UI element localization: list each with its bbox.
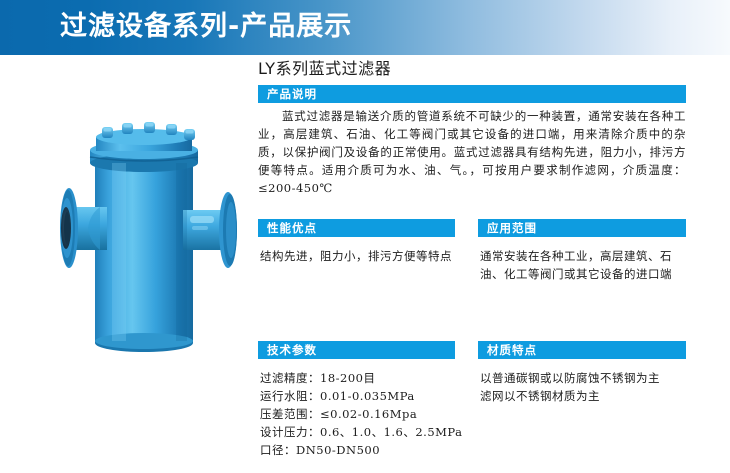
section-heading-parameters: 技术参数 — [258, 341, 455, 359]
parameter-line: 压差范围：≤0.02-0.16Mpa — [260, 405, 455, 423]
performance-text: 结构先进，阻力小，排污方便等特点 — [258, 247, 455, 265]
section-heading-material: 材质特点 — [478, 341, 686, 359]
application-text: 通常安装在各种工业，高层建筑、石油、化工等阀门或其它设备的进口端 — [478, 247, 686, 283]
material-column: 材质特点 以普通碳钢或以防腐蚀不锈钢为主 滤网以不锈钢材质为主 — [478, 341, 686, 459]
description-text: 蓝式过滤器是输送介质的管道系统不可缺少的一种装置，通常安装在各种工业，高层建筑、… — [258, 107, 686, 197]
section-heading-performance: 性能优点 — [258, 219, 455, 237]
performance-column: 性能优点 结构先进，阻力小，排污方便等特点 — [258, 219, 455, 283]
section-heading-description: 产品说明 — [258, 85, 686, 103]
product-content: LY系列蓝式过滤器 产品说明 蓝式过滤器是输送介质的管道系统不可缺少的一种装置，… — [258, 58, 688, 459]
product-title: LY系列蓝式过滤器 — [258, 58, 688, 80]
parameter-line: 口径：DN50-DN500 — [260, 441, 455, 459]
bottom-section-row: 技术参数 过滤精度：18-200目 运行水阻：0.01-0.035MPa 压差范… — [258, 341, 686, 459]
material-line: 滤网以不锈钢材质为主 — [480, 387, 686, 405]
parameters-list: 过滤精度：18-200目 运行水阻：0.01-0.035MPa 压差范围：≤0.… — [258, 369, 455, 459]
middle-section-row: 性能优点 结构先进，阻力小，排污方便等特点 应用范围 通常安装在各种工业，高层建… — [258, 219, 686, 283]
parameter-line: 运行水阻：0.01-0.035MPa — [260, 387, 455, 405]
banner-title: 过滤设备系列-产品展示 — [60, 8, 352, 46]
material-line: 以普通碳钢或以防腐蚀不锈钢为主 — [480, 369, 686, 387]
parameters-column: 技术参数 过滤精度：18-200目 运行水阻：0.01-0.035MPa 压差范… — [258, 341, 455, 459]
parameter-line: 设计压力：0.6、1.0、1.6、2.5MPa — [260, 423, 455, 441]
product-image — [40, 110, 255, 360]
product-showcase-page: 过滤设备系列-产品展示 — [0, 0, 730, 473]
application-column: 应用范围 通常安装在各种工业，高层建筑、石油、化工等阀门或其它设备的进口端 — [478, 219, 686, 283]
material-list: 以普通碳钢或以防腐蚀不锈钢为主 滤网以不锈钢材质为主 — [478, 369, 686, 405]
parameter-line: 过滤精度：18-200目 — [260, 369, 455, 387]
section-heading-application: 应用范围 — [478, 219, 686, 237]
page-banner: 过滤设备系列-产品展示 — [0, 0, 730, 55]
